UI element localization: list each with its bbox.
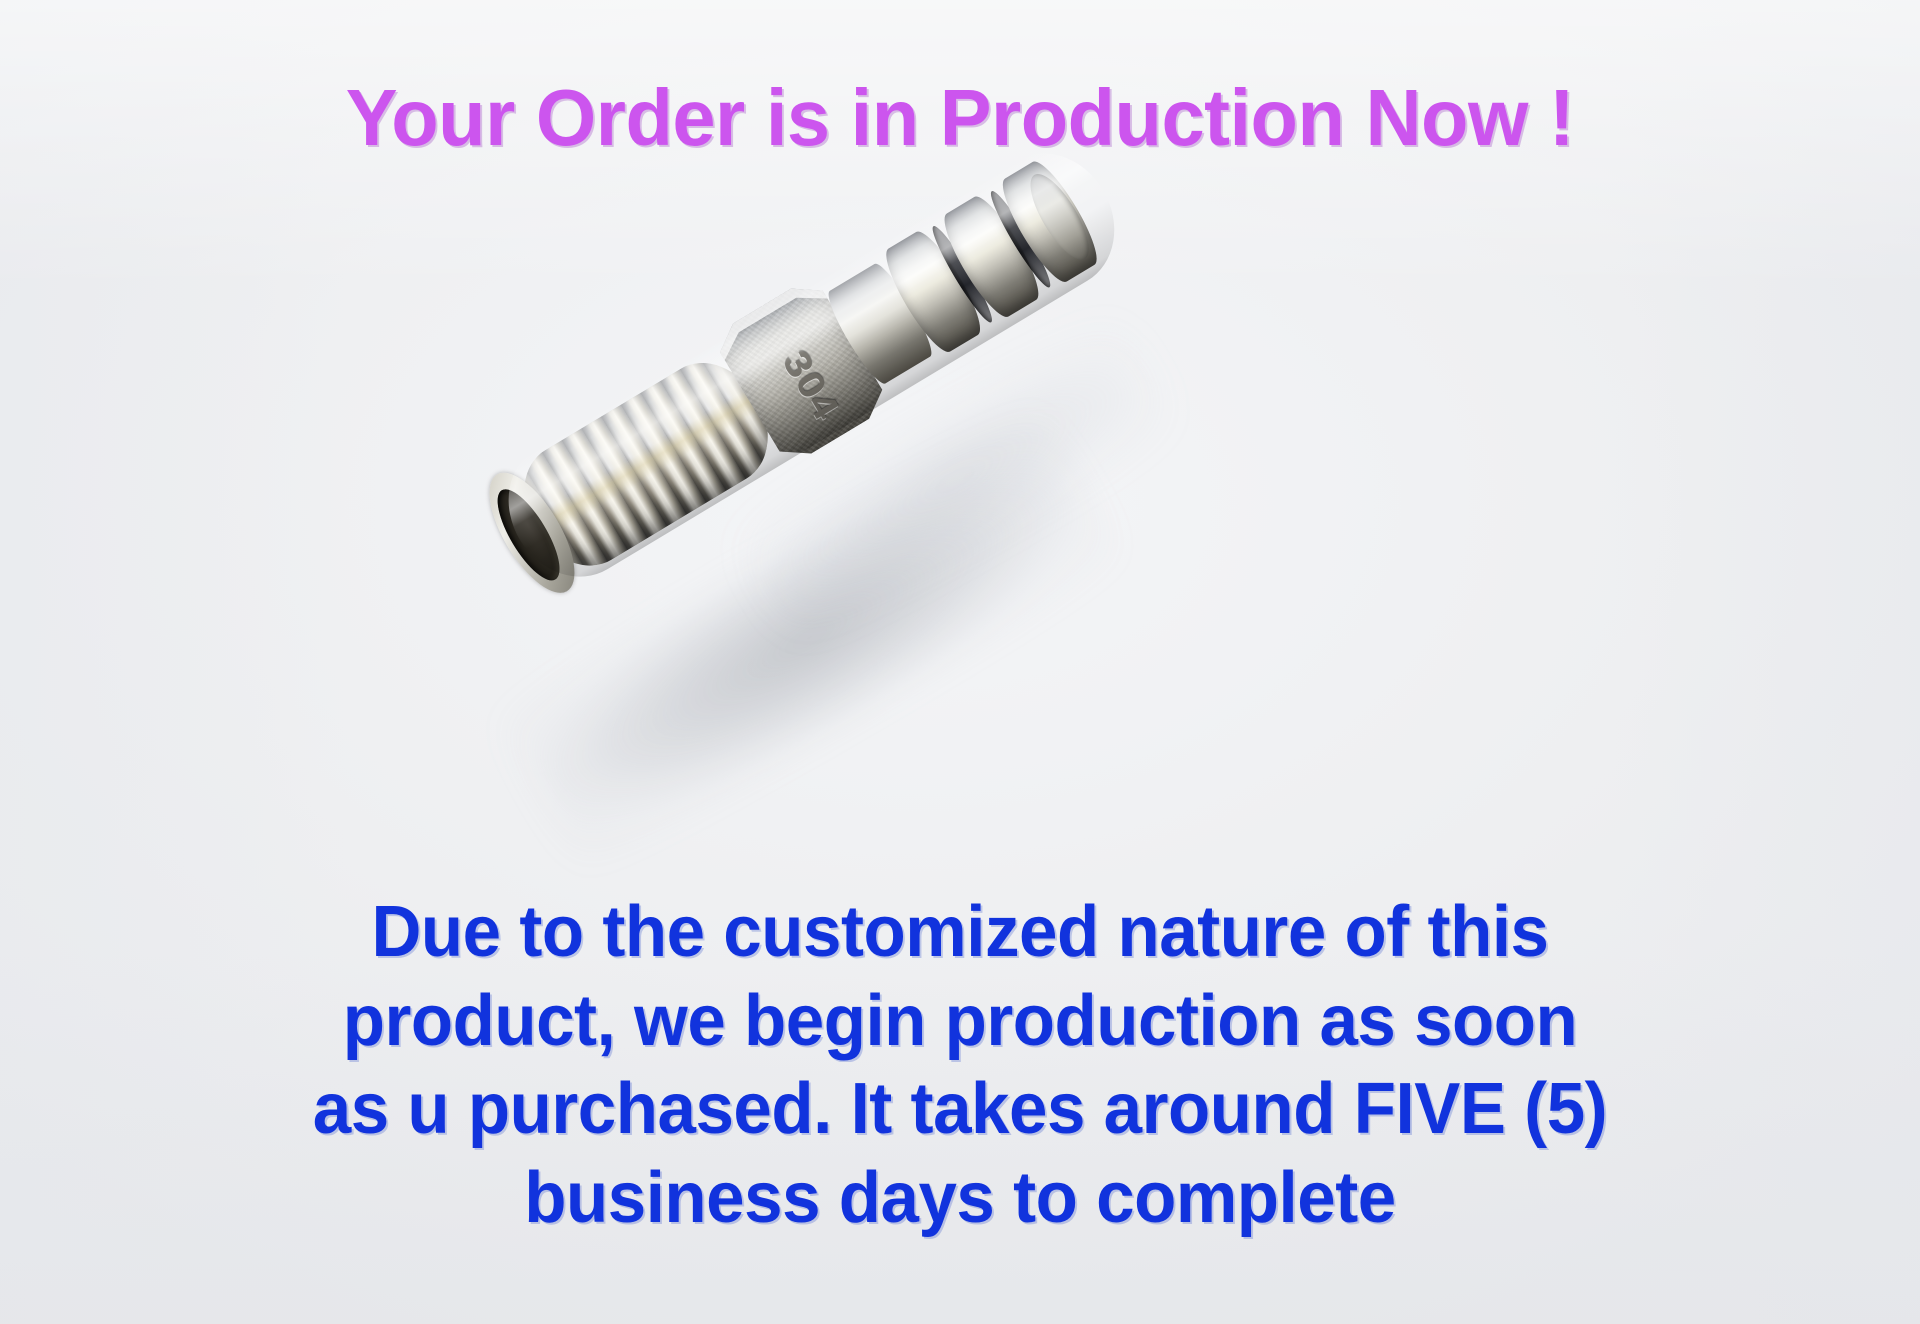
product-photo: 304 (560, 300, 1260, 770)
notice-line-3: as u purchased. It takes around FIVE (5) (38, 1065, 1881, 1154)
page-title: Your Order is in Production Now ! (29, 72, 1891, 164)
promotional-banner: Your Order is in Production Now ! 304 (0, 0, 1920, 1324)
notice-line-1: Due to the customized nature of this (38, 888, 1881, 977)
production-notice: Due to the customized nature of this pro… (0, 888, 1920, 1242)
notice-line-4: business days to complete (38, 1154, 1881, 1243)
notice-line-2: product, we begin production as soon (38, 977, 1881, 1066)
